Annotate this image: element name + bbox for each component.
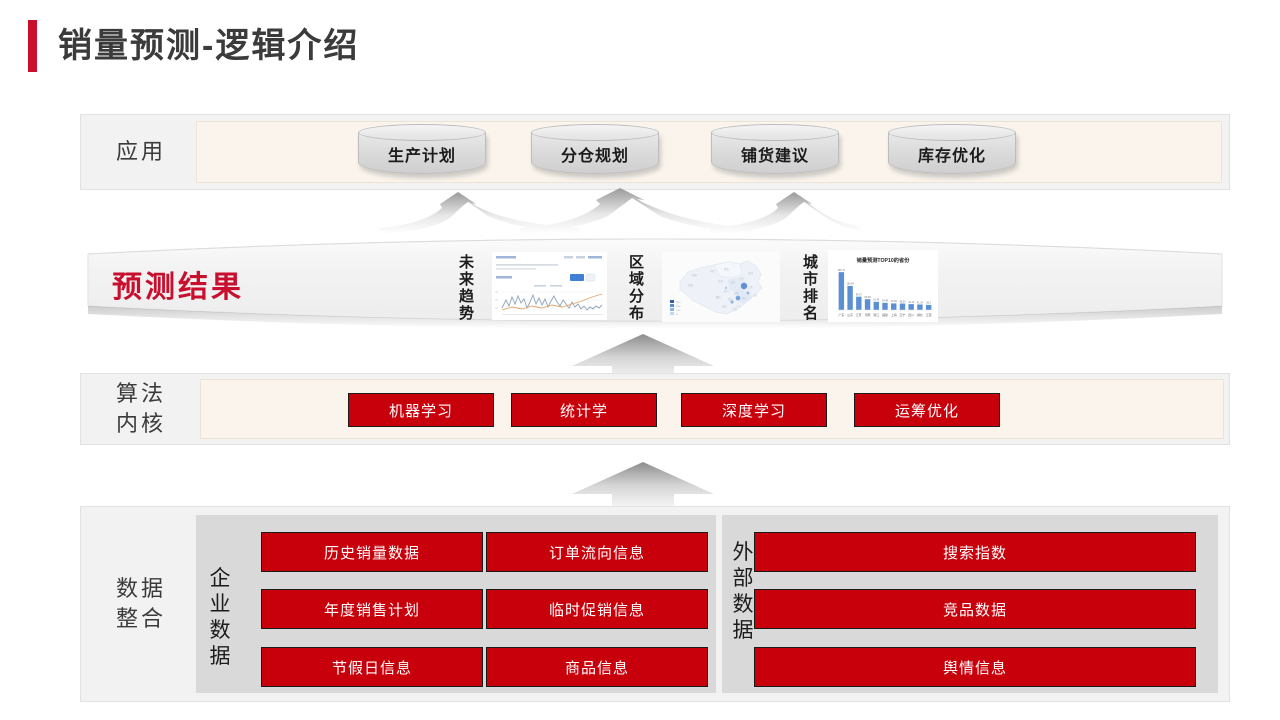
rank-chart-title: 销量预测TOP10的省份 <box>857 256 910 264</box>
svg-text:江西: 江西 <box>926 312 932 317</box>
application-item-label: 铺货建议 <box>711 136 839 172</box>
svg-text:甘肃: 甘肃 <box>718 279 723 283</box>
svg-text:浙江: 浙江 <box>873 312 879 317</box>
svg-text:61.46: 61.46 <box>873 299 880 302</box>
application-item-cylinder[interactable]: 库存优化 <box>888 124 1016 180</box>
forecast-result-band: 预测结果 未来趋势 <box>80 232 1230 336</box>
china-map-thumbnail: 新疆内蒙黑龙 甘肃山西辽宁 吉林四川湖北 浙江贵州云南 广东山东上海 西藏重庆广… <box>662 252 780 322</box>
svg-text:新疆: 新疆 <box>692 273 697 277</box>
svg-text:41.34: 41.34 <box>917 301 924 304</box>
external-data-chip[interactable]: 竞品数据 <box>754 589 1196 629</box>
band-shape <box>80 232 1230 336</box>
svg-text:广东: 广东 <box>838 312 844 317</box>
data-row-label-line1: 数据 <box>116 574 166 604</box>
slide-canvas: 销量预测-逻辑介绍 应用 生产计划 分仓规划 铺货建议 库存优化 <box>0 0 1280 720</box>
svg-text:300+: 300+ <box>676 302 682 304</box>
enterprise-data-chip[interactable]: 订单流向信息 <box>486 532 708 572</box>
enterprise-data-chip[interactable]: 年度销售计划 <box>261 589 483 629</box>
svg-text:48.54: 48.54 <box>899 300 906 303</box>
forecast-to-application-arrows <box>380 188 860 236</box>
svg-text:浙江: 浙江 <box>742 296 747 300</box>
external-data-chip[interactable]: 搜索指数 <box>754 532 1196 572</box>
top10-bar-chart-thumbnail: 销量预测TOP10的省份 283.74180.6499.6780.9861.46… <box>828 250 938 322</box>
data-row-label: 数据 整合 <box>88 506 194 702</box>
feather-arrow-right <box>710 192 812 234</box>
svg-text:200+: 200+ <box>676 306 682 308</box>
application-item-label: 生产计划 <box>358 136 486 172</box>
application-inner-panel <box>196 121 1222 183</box>
svg-text:江苏: 江苏 <box>856 312 862 317</box>
svg-text:湖北: 湖北 <box>917 312 923 317</box>
title-accent-bar <box>28 20 37 72</box>
feather-arrow-left <box>380 192 476 234</box>
svg-text:四川: 四川 <box>724 290 729 293</box>
algorithm-item-chip[interactable]: 机器学习 <box>348 393 494 427</box>
enterprise-data-chip[interactable]: 节假日信息 <box>261 647 483 687</box>
application-item-label: 库存优化 <box>888 136 1016 172</box>
svg-text:吉林: 吉林 <box>748 271 753 275</box>
forecast-band-title: 预测结果 <box>112 262 244 306</box>
svg-text:云南: 云南 <box>722 304 727 308</box>
svg-text:湖北: 湖北 <box>734 291 739 295</box>
svg-text:辽宁: 辽宁 <box>740 276 745 280</box>
algorithm-item-chip[interactable]: 运筹优化 <box>854 393 1000 427</box>
enterprise-data-group-label: 企业数据 <box>208 566 232 670</box>
application-item-label: 分仓规划 <box>531 136 659 172</box>
enterprise-data-chip[interactable]: 临时促销信息 <box>486 589 708 629</box>
svg-text:38.2: 38.2 <box>926 302 931 305</box>
data-row-label-line2: 整合 <box>116 604 166 634</box>
forecast-panel-label-trend: 未来趋势 <box>458 254 475 322</box>
application-item-cylinder[interactable]: 生产计划 <box>358 124 486 180</box>
application-item-cylinder[interactable]: 铺货建议 <box>711 124 839 180</box>
svg-text:283.74: 283.74 <box>838 269 846 272</box>
algorithm-row-label: 算法 内核 <box>88 373 194 445</box>
application-item-cylinder[interactable]: 分仓规划 <box>531 124 659 180</box>
svg-text:180.64: 180.64 <box>846 283 854 286</box>
algorithm-row-label-line1: 算法 <box>116 379 166 409</box>
svg-text:49.39: 49.39 <box>891 300 898 303</box>
svg-text:53.48: 53.48 <box>882 300 889 303</box>
svg-text:广西: 广西 <box>732 307 737 311</box>
application-row-label: 应用 <box>88 114 194 190</box>
external-data-group-label: 外部数据 <box>731 540 755 644</box>
svg-text:山西: 山西 <box>730 280 735 284</box>
feather-arrow-center <box>520 188 644 234</box>
page-title: 销量预测-逻辑介绍 <box>58 22 359 70</box>
svg-text:99.67: 99.67 <box>856 294 863 297</box>
svg-text:贵州: 贵州 <box>728 297 733 301</box>
svg-text:黑龙: 黑龙 <box>724 267 729 271</box>
svg-text:广东: 广东 <box>736 304 741 308</box>
svg-text:西藏: 西藏 <box>688 283 693 287</box>
svg-text:重庆: 重庆 <box>716 295 721 299</box>
forecast-panel-label-region: 区域分布 <box>628 254 645 322</box>
trend-line-dashboard-thumbnail: 302010 <box>492 252 607 320</box>
enterprise-data-chip[interactable]: 历史销量数据 <box>261 532 483 572</box>
svg-text:上海: 上海 <box>752 293 757 297</box>
svg-text:福建: 福建 <box>882 312 888 317</box>
svg-text:44.13: 44.13 <box>908 301 915 304</box>
svg-text:80.98: 80.98 <box>865 296 872 299</box>
algorithm-item-chip[interactable]: 深度学习 <box>681 393 827 427</box>
algorithm-item-chip[interactable]: 统计学 <box>511 393 657 427</box>
svg-text:山东: 山东 <box>847 312 853 317</box>
algorithm-row-label-line2: 内核 <box>116 409 166 439</box>
svg-text:100+: 100+ <box>676 310 682 312</box>
external-data-chip[interactable]: 舆情信息 <box>754 647 1196 687</box>
enterprise-data-chip[interactable]: 商品信息 <box>486 647 708 687</box>
svg-text:四川: 四川 <box>908 313 914 317</box>
svg-text:内蒙: 内蒙 <box>710 269 715 273</box>
svg-text:辽宁: 辽宁 <box>900 312 906 317</box>
svg-text:山东: 山东 <box>748 285 753 289</box>
rank-chart-category-labels: 广东山东江苏河南浙江福建上海辽宁四川湖北江西 <box>838 312 931 317</box>
svg-text:上海: 上海 <box>891 312 897 317</box>
svg-text:河南: 河南 <box>865 312 871 317</box>
forecast-panel-label-ranking: 城市排名 <box>802 254 819 322</box>
